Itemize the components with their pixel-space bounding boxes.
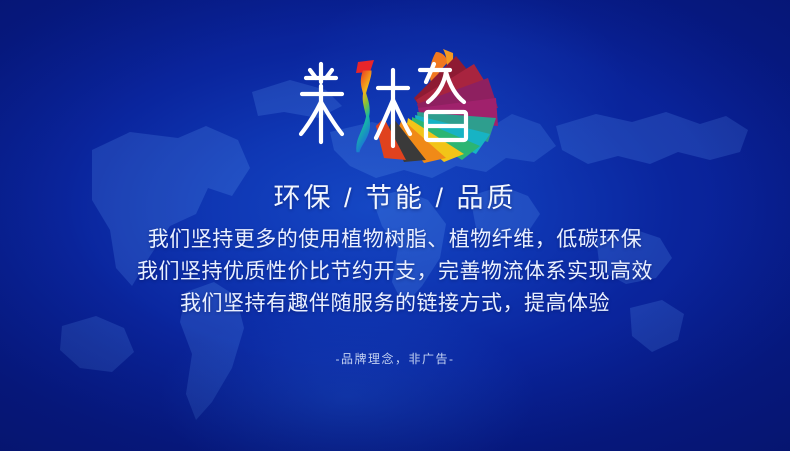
slogan-line-1: 我们坚持更多的使用植物树脂、植物纤维，低碳环保 [0, 224, 790, 256]
page-title: 环保 / 节能 / 品质 [0, 176, 790, 215]
logo-character-cai [301, 64, 342, 142]
logo-ribbon [356, 60, 374, 152]
brand-logo [296, 42, 508, 164]
slogan-list: 我们坚持更多的使用植物树脂、植物纤维，低碳环保 我们坚持优质性价比节约开支，完善… [0, 224, 790, 320]
brand-banner: 环保 / 节能 / 品质 我们坚持更多的使用植物树脂、植物纤维，低碳环保 我们坚… [0, 0, 790, 451]
slogan-line-2: 我们坚持优质性价比节约开支，完善物流体系实现高效 [0, 256, 790, 288]
slogan-line-3: 我们坚持有趣伴随服务的链接方式，提高体验 [0, 288, 790, 320]
footnote-text: -品牌理念，非广告- [0, 350, 790, 367]
